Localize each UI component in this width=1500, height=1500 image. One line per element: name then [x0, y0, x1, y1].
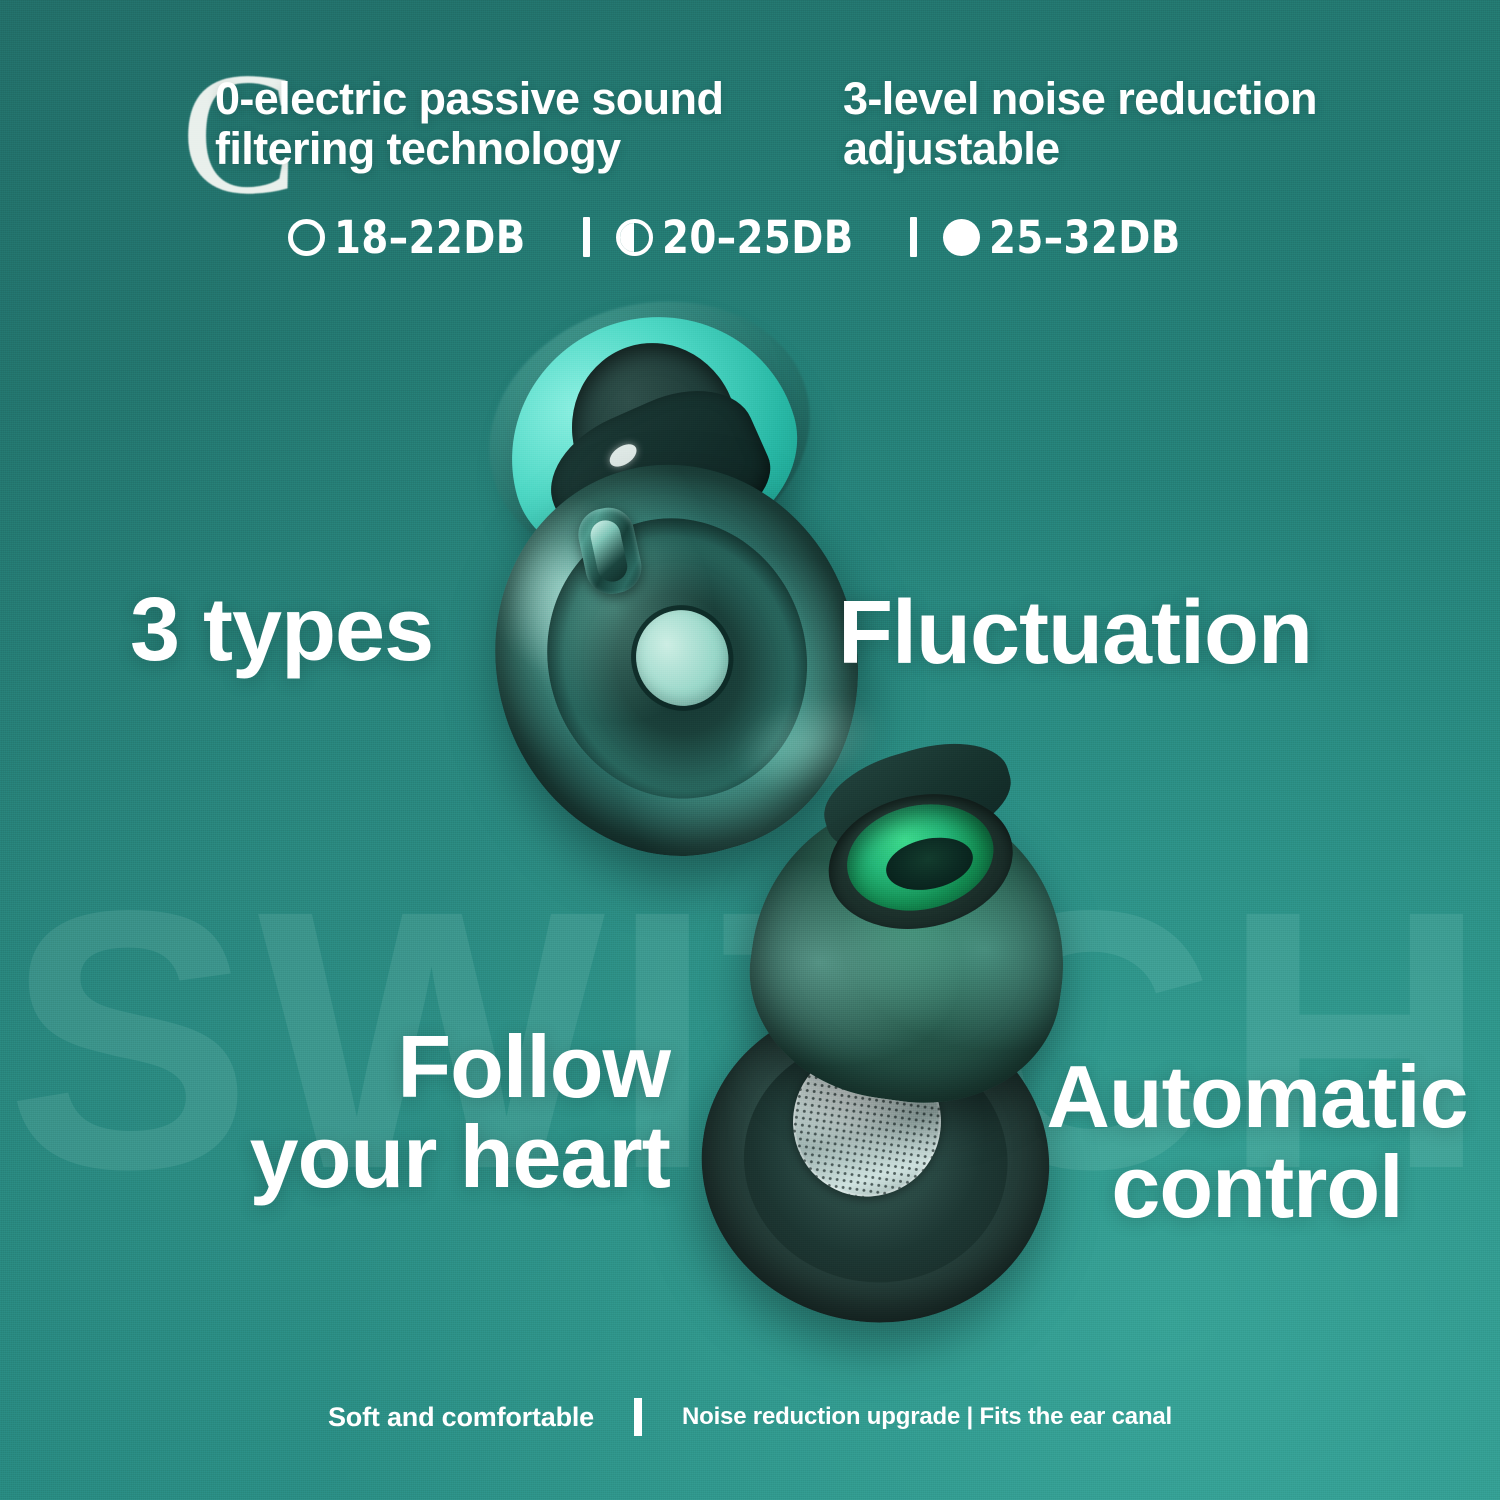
callout-follow-your-heart: Follow your heart: [150, 1022, 670, 1202]
product-marketing-banner: SWITCH C 0-electric passive sound filter…: [0, 0, 1500, 1500]
footer-text-left: Soft and comfortable: [328, 1402, 594, 1433]
noise-level-label-1: 18–22DB: [334, 211, 526, 264]
circle-half-icon: [616, 219, 653, 256]
noise-level-label-3: 25–32DB: [989, 211, 1181, 264]
circle-full-icon: [943, 219, 980, 256]
footer-bar: Soft and comfortable Noise reduction upg…: [0, 1393, 1500, 1441]
noise-level-label-2: 20–25DB: [662, 211, 854, 264]
noise-level-separator-2: [910, 217, 917, 257]
callout-fluctuation: Fluctuation: [838, 588, 1312, 680]
noise-level-item-1[interactable]: 18–22DB: [288, 211, 557, 264]
heading-passive-filtering: 0-electric passive sound filtering techn…: [215, 74, 855, 175]
callout-automatic-control: Automatic control: [1032, 1052, 1482, 1232]
noise-level-separator-1: [583, 217, 590, 257]
earbud-switch-inner: [588, 518, 630, 585]
callout-follow-line2: your heart: [150, 1112, 670, 1202]
callout-automatic-line1: Automatic: [1032, 1052, 1482, 1142]
heading-noise-reduction: 3-level noise reduction adjustable: [843, 74, 1403, 175]
noise-level-item-2[interactable]: 20–25DB: [616, 211, 885, 264]
footer-divider: [634, 1398, 642, 1436]
noise-level-row: 18–22DB 20–25DB 25–32DB: [0, 206, 1500, 268]
callout-3-types: 3 types: [130, 585, 433, 677]
callout-automatic-line2: control: [1032, 1142, 1482, 1232]
circle-empty-icon: [288, 219, 325, 256]
footer-text-right: Noise reduction upgrade | Fits the ear c…: [682, 1403, 1172, 1431]
callout-follow-line1: Follow: [150, 1022, 670, 1112]
noise-level-item-3[interactable]: 25–32DB: [943, 211, 1212, 264]
